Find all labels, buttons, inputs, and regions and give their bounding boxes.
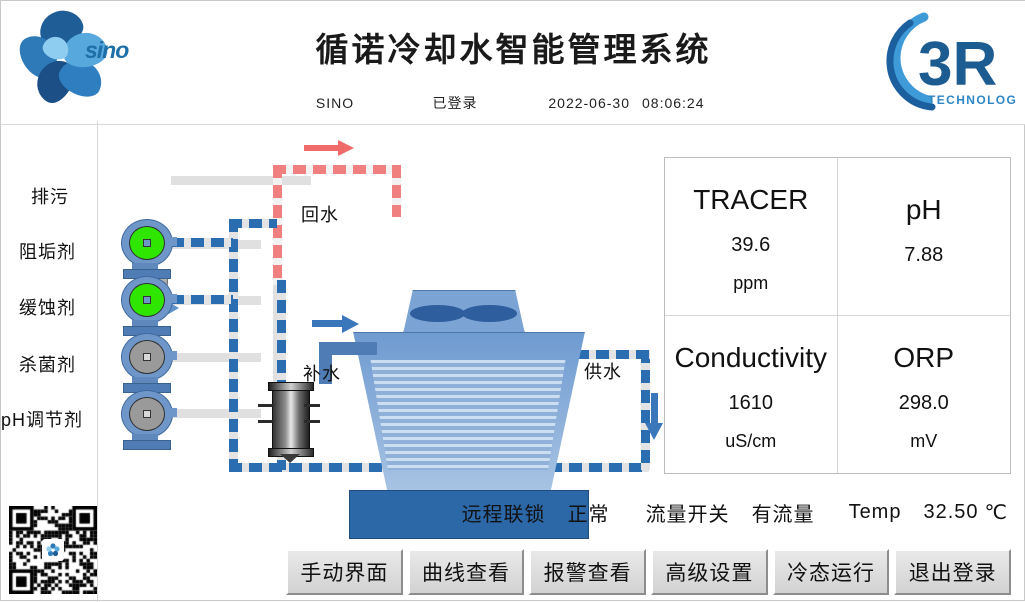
tile-ph: pH 7.88: [838, 158, 1011, 316]
flow-switch-label: 流量开关: [646, 498, 730, 527]
user-name: SINO: [275, 95, 395, 111]
date-label: 2022-06-30: [515, 95, 630, 111]
pump-biocide[interactable]: [119, 333, 175, 389]
supply-pipe-left: [229, 219, 238, 471]
pump-hub: [143, 239, 151, 247]
return-pipe-down-right: [392, 165, 401, 217]
process-diagram: 排污 阻垢剂 缓蚀剂 杀菌剂 pH调节剂: [1, 125, 661, 477]
fan-blade-icon: [462, 305, 517, 322]
vessel-nozzle-right-upper: [304, 404, 320, 407]
manual-interface-button[interactable]: 手动界面: [286, 549, 403, 595]
tile-title: Conductivity: [674, 343, 827, 374]
login-state: 已登录: [395, 93, 515, 113]
vessel-nozzle-left-upper: [258, 404, 274, 407]
vessel-nozzle-right-lower: [304, 420, 320, 423]
cold-start-button[interactable]: 冷态运行: [773, 549, 890, 595]
tile-orp: ORP 298.0 mV: [838, 316, 1011, 474]
pipe-dose3-gray: [171, 353, 261, 362]
svg-text:TECHNOLOGY: TECHNOLOGY: [928, 93, 1016, 107]
pump-hub: [143, 410, 151, 418]
side-stream-vessel[interactable]: [266, 378, 314, 464]
return-pipe-top: [273, 165, 401, 174]
pump-nozzle: [167, 294, 177, 303]
tile-title: TRACER: [693, 185, 808, 216]
tile-unit: mV: [910, 431, 937, 452]
pipe-blowdown-gray: [171, 176, 311, 185]
time-label: 08:06:24: [630, 95, 752, 111]
logout-button[interactable]: 退出登录: [894, 549, 1011, 595]
3r-technology-logo: 3R TECHNOLOGY: [866, 5, 1016, 115]
svg-text:3R: 3R: [918, 30, 997, 99]
label-corrosion-inhibitor: 缓蚀剂: [19, 294, 76, 320]
remote-interlock-label: 远程联锁: [462, 498, 546, 527]
pump-hub: [143, 353, 151, 361]
tile-conductivity: Conductivity 1610 uS/cm: [665, 316, 838, 474]
header-bar: sino 循诺冷却水智能管理系统 SINO 已登录 2022-06-30 08:…: [1, 1, 1025, 125]
pump-hub: [143, 296, 151, 304]
temp-label: Temp: [849, 501, 902, 524]
supply-pipe-right: [641, 350, 650, 470]
advanced-settings-button[interactable]: 高级设置: [651, 549, 768, 595]
tile-unit: uS/cm: [725, 431, 776, 452]
hmi-screen: sino 循诺冷却水智能管理系统 SINO 已登录 2022-06-30 08:…: [0, 0, 1025, 601]
remote-interlock-value: 正常: [568, 498, 610, 527]
flow-switch-value: 有流量: [752, 498, 815, 527]
temp-value: 32.50: [923, 501, 978, 524]
tile-unit: ppm: [733, 273, 768, 294]
status-row: 远程联锁 正常 流量开关 有流量 Temp 32.50 ℃: [1, 493, 1025, 531]
temp-unit: ℃: [985, 500, 1008, 525]
label-biocide: 杀菌剂: [19, 351, 76, 377]
tile-title: pH: [906, 195, 942, 226]
tile-title: ORP: [893, 343, 954, 374]
pump-ph-adjuster[interactable]: [119, 390, 175, 446]
label-makeup-water: 补水: [303, 360, 341, 386]
label-blowdown: 排污: [31, 183, 69, 209]
alarm-view-button[interactable]: 报警查看: [529, 549, 646, 595]
pump-corrosion-inhibitor[interactable]: [119, 276, 175, 332]
label-return-water: 回水: [301, 201, 339, 227]
label-scale-inhibitor: 阻垢剂: [19, 238, 76, 264]
tile-tracer: TRACER 39.6 ppm: [665, 158, 838, 316]
measurement-panel: TRACER 39.6 ppm pH 7.88 Conductivity 161…: [664, 157, 1011, 474]
tile-value: 39.6: [731, 234, 770, 257]
pump-nozzle: [167, 408, 177, 417]
pump-scale-inhibitor[interactable]: [119, 219, 175, 275]
pump-base-lower: [123, 440, 171, 450]
label-supply-water: 供水: [584, 358, 622, 384]
tile-value: 1610: [729, 392, 774, 415]
tile-value: 298.0: [899, 392, 949, 415]
fan-blade-icon: [410, 305, 465, 322]
pump-nozzle: [167, 237, 177, 246]
vessel-nozzle-left-lower: [258, 420, 274, 423]
dose-line-1: [171, 238, 233, 247]
tower-fan-housing: [403, 290, 525, 334]
supply-pipe-branch-a: [229, 219, 277, 228]
tile-value: 7.88: [904, 244, 943, 267]
button-bar: 手动界面 曲线查看 报警查看 高级设置 冷态运行 退出登录: [286, 549, 1011, 595]
pipe-dose4-gray: [171, 409, 261, 418]
qr-code[interactable]: [9, 506, 97, 594]
curve-view-button[interactable]: 曲线查看: [408, 549, 525, 595]
qr-center-logo-icon: [46, 543, 60, 557]
3r-logo-svg: 3R TECHNOLOGY: [866, 5, 1016, 115]
pump-nozzle: [167, 351, 177, 360]
label-ph-adjuster: pH调节剂: [1, 406, 83, 432]
vessel-bottom-cone: [280, 454, 300, 463]
